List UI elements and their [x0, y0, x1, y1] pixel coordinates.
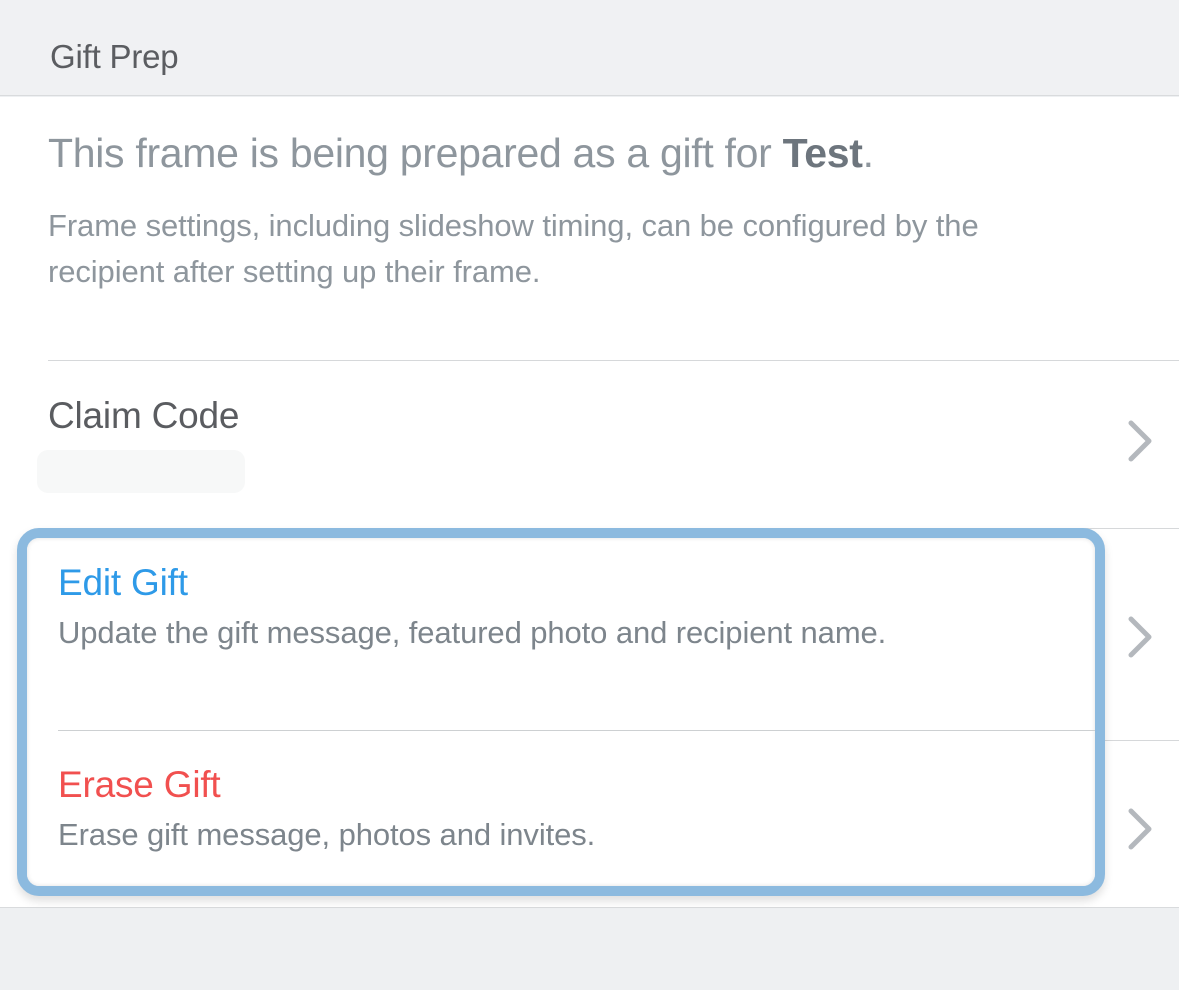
chevron-right-icon[interactable] — [1128, 616, 1154, 658]
intro-section: This frame is being prepared as a gift f… — [48, 127, 1138, 295]
edit-gift-description: Update the gift message, featured photo … — [58, 610, 898, 656]
erase-gift-description: Erase gift message, photos and invites. — [58, 812, 898, 858]
edit-gift-option[interactable]: Edit Gift Update the gift message, featu… — [58, 560, 1058, 656]
footer-strip — [0, 909, 1179, 990]
intro-heading-prefix: This frame is being prepared as a gift f… — [48, 130, 783, 176]
intro-heading: This frame is being prepared as a gift f… — [48, 127, 1138, 179]
highlight-outline: Edit Gift Update the gift message, featu… — [17, 528, 1105, 896]
intro-heading-recipient: Test — [783, 130, 863, 176]
intro-heading-suffix: . — [863, 130, 874, 176]
option-divider — [58, 730, 1095, 731]
erase-gift-option[interactable]: Erase Gift Erase gift message, photos an… — [58, 762, 1058, 858]
chevron-right-icon[interactable] — [1128, 808, 1154, 850]
intro-subtext: Frame settings, including slideshow timi… — [48, 203, 1008, 295]
claim-code-label: Claim Code — [48, 395, 239, 437]
erase-gift-title: Erase Gift — [58, 762, 1058, 808]
nav-bar: Gift Prep — [0, 0, 1179, 96]
options-group: Edit Gift Update the gift message, featu… — [27, 538, 1095, 886]
chevron-right-icon[interactable] — [1128, 420, 1154, 462]
edit-gift-title: Edit Gift — [58, 560, 1058, 606]
claim-code-row[interactable]: Claim Code — [0, 361, 1179, 528]
page-title: Gift Prep — [50, 38, 178, 76]
claim-code-value — [37, 450, 245, 493]
